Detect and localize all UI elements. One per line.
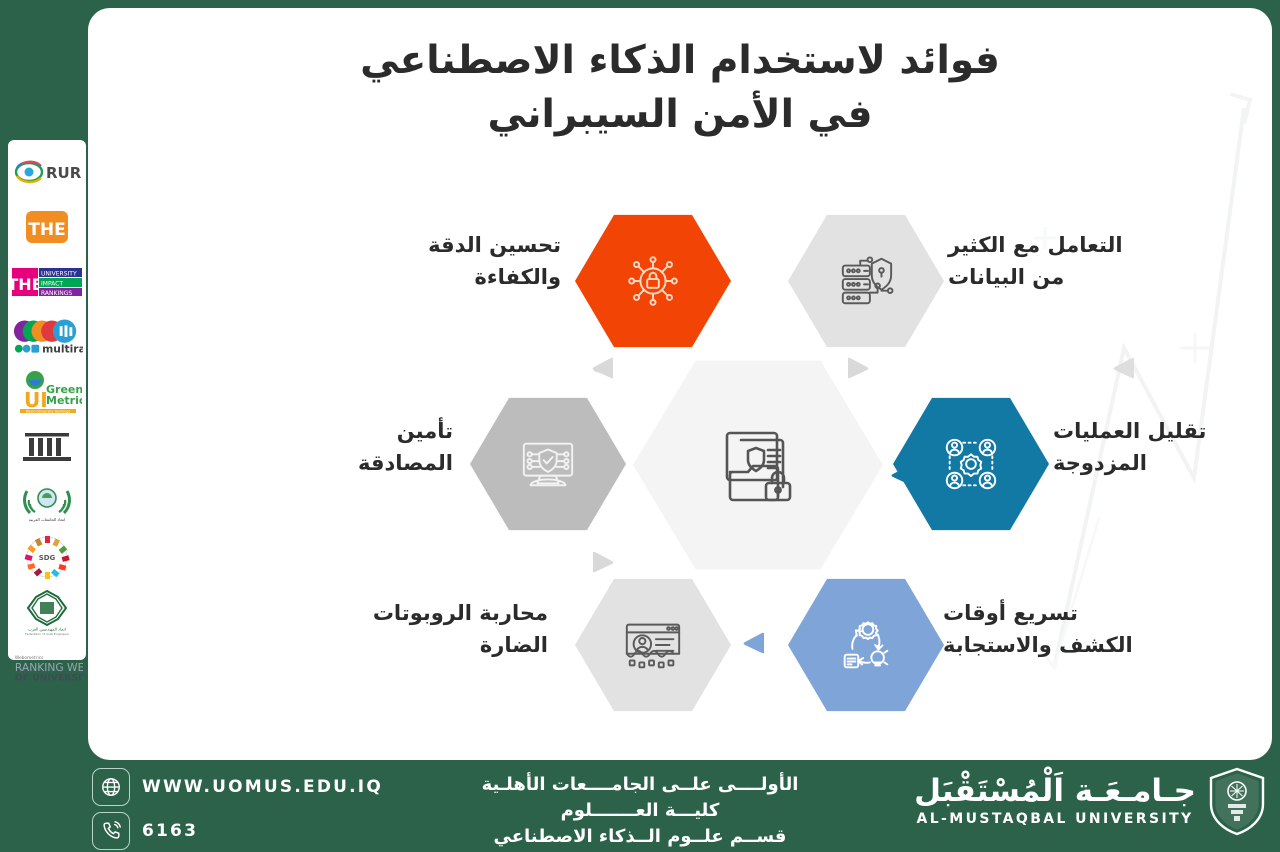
label-speed-response-line1: تسريع أوقات (943, 598, 1158, 630)
svg-text:UNIVERSITY: UNIVERSITY (41, 271, 77, 278)
label-secure-auth-line1: تأمين (238, 416, 453, 448)
connector-top-left (589, 356, 615, 380)
svg-text:multirank: multirank (42, 343, 83, 356)
svg-text:Metric: Metric (46, 394, 82, 407)
browser-user-profile-icon (621, 615, 685, 675)
label-big-data: التعامل مع الكثير من البيانات (948, 230, 1163, 293)
content-card: فوائد لاستخدام الذكاء الاصطناعي في الأمن… (88, 8, 1272, 760)
badge-arab-engineers: اتحاد المهندسين العرب Federation of Arab… (11, 586, 83, 638)
hexagon-reduce-duplicate[interactable] (893, 393, 1049, 535)
page-footer: WWW.UOMUS.EDU.IQ 6163 الأولــــى علــى ا… (0, 760, 1280, 852)
svg-text:RANKINGS: RANKINGS (41, 290, 72, 297)
brand-name-arabic: جـامـعَـة اَلْمُسْتَقْبَل (914, 775, 1196, 808)
label-speed-response: تسريع أوقات الكشف والاستجابة (943, 598, 1158, 661)
badge-sdg: SDG (11, 531, 83, 583)
label-big-data-line2: من البيانات (948, 262, 1163, 294)
svg-text:IMPACT: IMPACT (41, 281, 63, 288)
hexagon-big-data[interactable] (788, 210, 944, 352)
svg-text:SDG: SDG (39, 554, 56, 562)
hexagon-secure-auth[interactable] (470, 393, 626, 535)
process-cycle-gear-bulb-icon (835, 614, 897, 676)
label-fight-bots-line2: الضارة (333, 630, 548, 662)
accreditation-badge-rail: RUR THE THE UNIVERSITY IMPACT RANKINGS (8, 140, 86, 660)
university-crest-icon (1206, 766, 1268, 836)
svg-text:اتحاد الجامعات العربية: اتحاد الجامعات العربية (29, 517, 65, 522)
database-shield-icon (835, 252, 897, 310)
monitor-shield-check-icon (515, 435, 581, 493)
label-reduce-duplicate-line2: المزدوجة (1053, 448, 1268, 480)
title-line-2: في الأمن السيبراني (88, 88, 1272, 142)
users-gear-network-icon (940, 433, 1002, 495)
hexagon-accuracy[interactable] (575, 210, 731, 352)
badge-arab-union: اتحاد الجامعات العربية (11, 476, 83, 528)
label-accuracy-line1: تحسين الدقة (346, 230, 561, 262)
network-lock-icon (622, 250, 684, 312)
connector-top-right (846, 356, 872, 380)
badge-columns (11, 421, 83, 473)
svg-text:Federation of Arab Engineers: Federation of Arab Engineers (25, 632, 69, 636)
label-fight-bots-line1: محاربة الروبوتات (333, 598, 548, 630)
page-title: فوائد لاستخدام الذكاء الاصطناعي في الأمن… (88, 34, 1272, 142)
label-accuracy-line2: والكفاءة (346, 262, 561, 294)
svg-text:THE: THE (11, 275, 43, 294)
hexagon-speed-response[interactable] (788, 574, 944, 716)
badge-greenmetric: UI Green Metric World University Ranking… (11, 366, 83, 418)
center-hexagon (633, 353, 883, 577)
label-fight-bots: محاربة الروبوتات الضارة (333, 598, 548, 661)
brand-name-english: AL-MUSTAQBAL UNIVERSITY (914, 811, 1196, 827)
hexagon-diagram: تحسين الدقة والكفاءة (88, 188, 1272, 748)
label-reduce-duplicate-line1: تقليل العمليات (1053, 416, 1268, 448)
svg-text:اتحاد المهندسين العرب: اتحاد المهندسين العرب (28, 627, 66, 632)
university-brand: جـامـعَـة اَلْمُسْتَقْبَل AL-MUSTAQBAL U… (914, 766, 1268, 836)
label-secure-auth-line2: المصادقة (238, 448, 453, 480)
document-shield-folder-lock-icon (710, 417, 806, 513)
connector-bottom-left (591, 550, 617, 574)
badge-webometrics: Webometrics RANKING WEB OF UNIVERSITIES (11, 641, 83, 693)
title-line-1: فوائد لاستخدام الذكاء الاصطناعي (88, 34, 1272, 88)
label-big-data-line1: التعامل مع الكثير (948, 230, 1163, 262)
badge-the-impact: THE UNIVERSITY IMPACT RANKINGS (11, 256, 83, 308)
svg-text:World University Rankings: World University Rankings (26, 409, 71, 413)
label-accuracy: تحسين الدقة والكفاءة (346, 230, 561, 293)
label-secure-auth: تأمين المصادقة (238, 416, 453, 479)
svg-text:THE: THE (28, 220, 65, 240)
badge-rur: RUR (11, 146, 83, 198)
label-speed-response-line2: الكشف والاستجابة (943, 630, 1158, 662)
brand-text-block: جـامـعَـة اَلْمُسْتَقْبَل AL-MUSTAQBAL U… (914, 775, 1196, 827)
svg-text:OF UNIVERSITIES: OF UNIVERSITIES (15, 673, 83, 684)
page-background: فوائد لاستخدام الذكاء الاصطناعي في الأمن… (0, 0, 1280, 852)
connector-spare-right (1110, 356, 1136, 380)
connector-bottom-right (740, 631, 766, 655)
label-reduce-duplicate: تقليل العمليات المزدوجة (1053, 416, 1268, 479)
svg-text:RUR: RUR (46, 164, 82, 182)
hexagon-fight-bots[interactable] (575, 574, 731, 716)
badge-multirank: multirank (11, 311, 83, 363)
badge-the: THE (11, 201, 83, 253)
